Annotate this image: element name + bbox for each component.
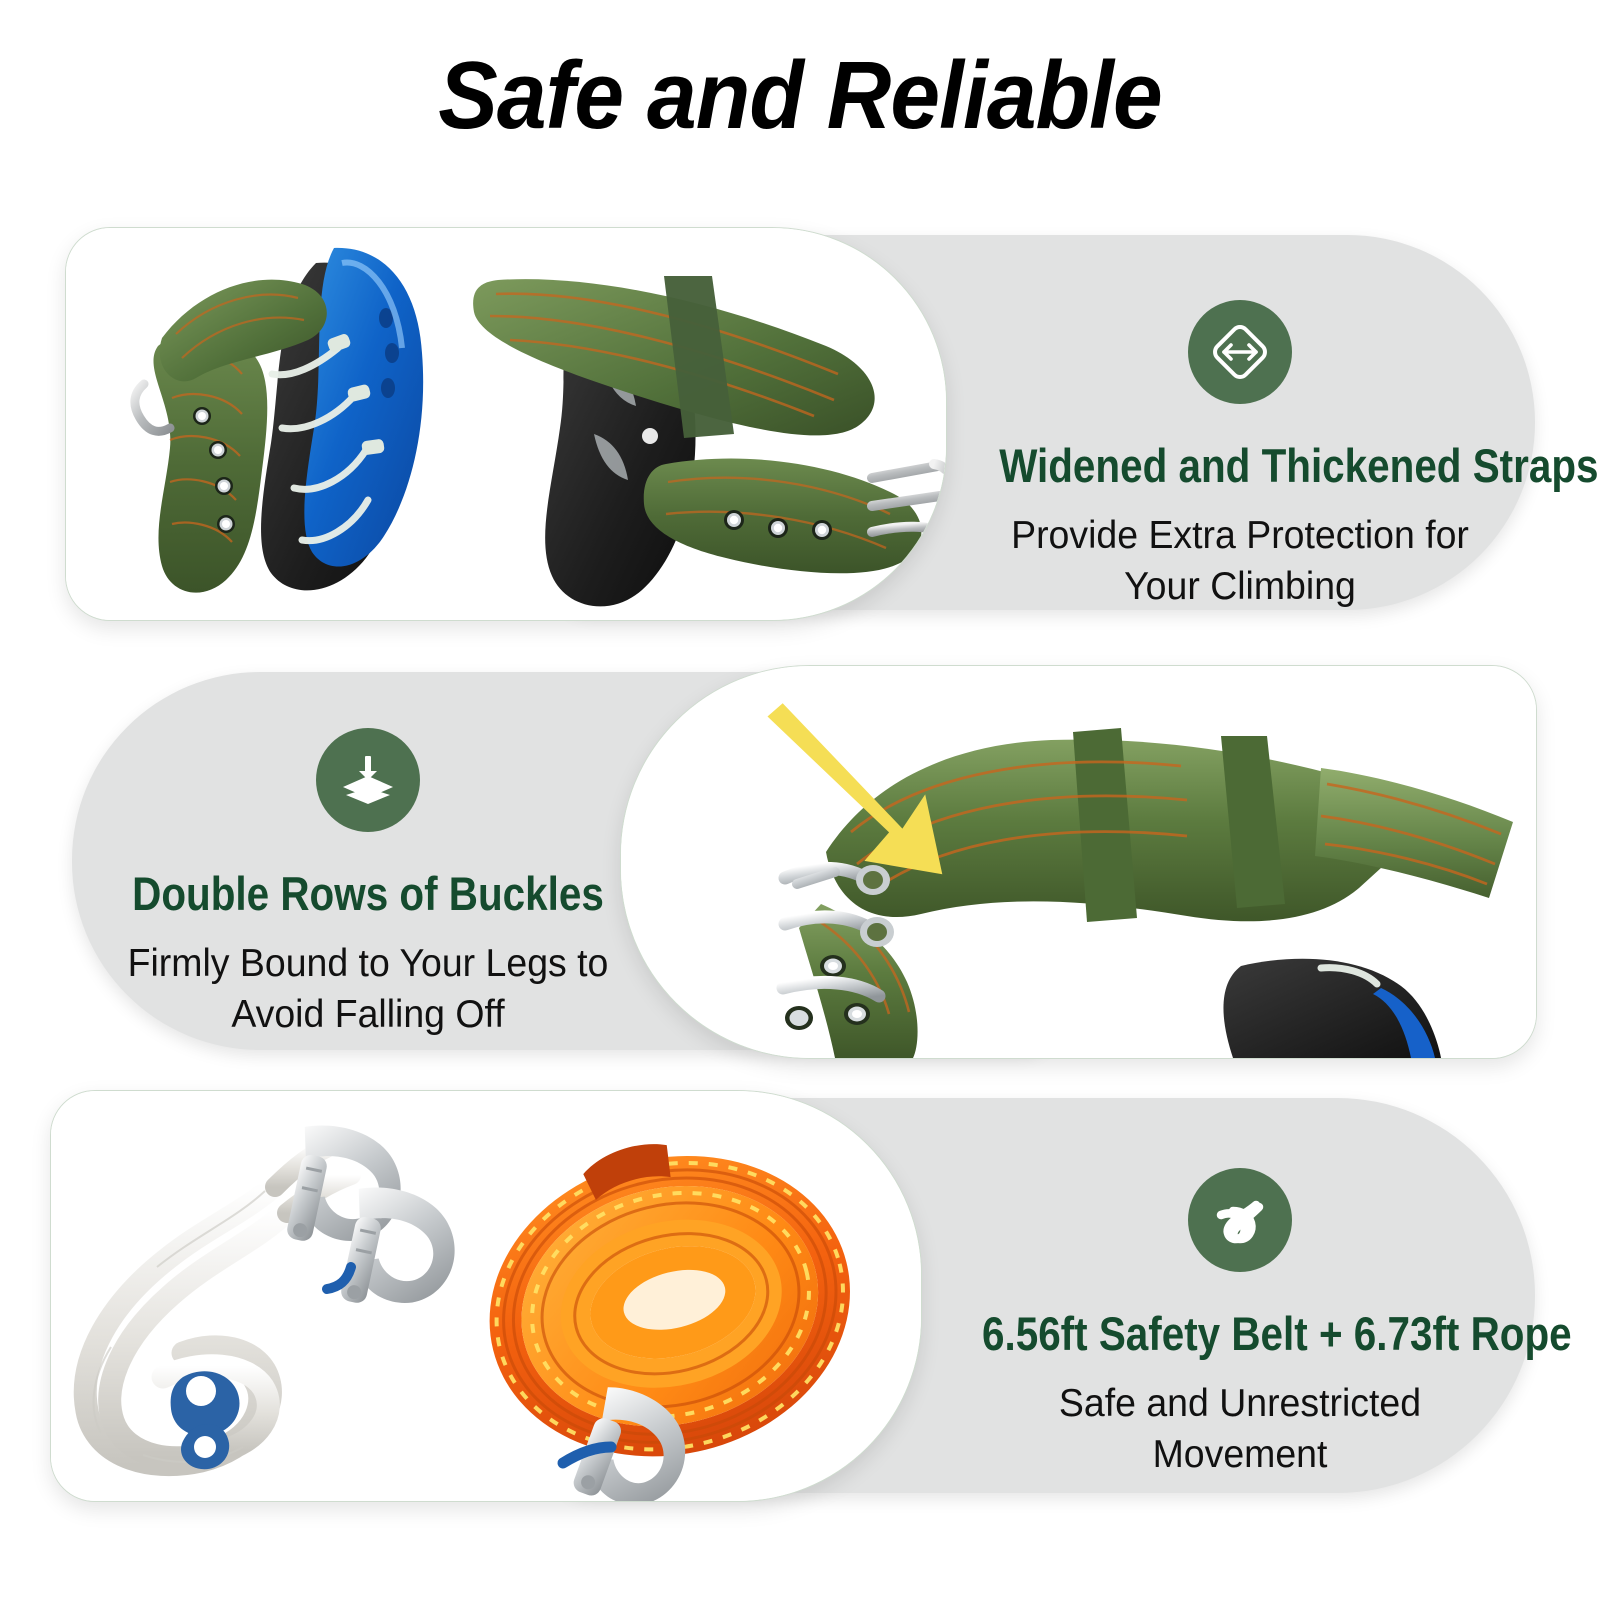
rope-and-belt-photo (51, 1091, 921, 1501)
feature-3-subtext-line2: Movement (952, 1430, 1528, 1481)
infographic-page: Safe and Reliable (0, 0, 1600, 1600)
feature-block-belt-and-rope: 6.56ft Safety Belt + 6.73ft Rope Safe an… (0, 0, 1600, 1600)
feature-3-heading: 6.56ft Safety Belt + 6.73ft Rope (982, 1306, 1498, 1361)
rope-knot-icon (1188, 1168, 1292, 1272)
feature-3-photo-pane (50, 1090, 922, 1502)
feature-3-subtext-line1: Safe and Unrestricted (952, 1379, 1528, 1430)
feature-3-text: 6.56ft Safety Belt + 6.73ft Rope Safe an… (940, 1168, 1540, 1480)
feature-3-subtext: Safe and Unrestricted Movement (952, 1379, 1528, 1480)
